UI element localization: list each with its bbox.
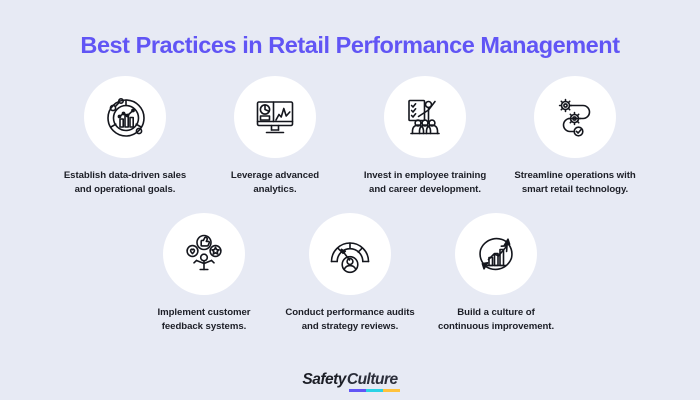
icon-badge <box>84 76 166 158</box>
gears-workflow-path-icon <box>549 91 601 143</box>
practice-card-establish-goals[interactable]: Establish data-driven sales and operatio… <box>50 76 200 197</box>
page-title: Best Practices in Retail Performance Man… <box>80 33 619 59</box>
logo-safety-text: Safety <box>302 372 346 388</box>
practice-card-streamline-operations[interactable]: Streamline operations with smart retail … <box>500 76 650 197</box>
icon-badge <box>455 213 537 295</box>
practice-card-leverage-analytics[interactable]: Leverage advanced analytics. <box>200 76 350 197</box>
practice-caption: Establish data-driven sales and operatio… <box>64 169 186 197</box>
icon-badge <box>234 76 316 158</box>
data-donut-chart-icon <box>99 91 151 143</box>
practice-caption: Conduct performance audits and strategy … <box>285 306 414 334</box>
practice-caption: Leverage advanced analytics. <box>231 169 319 197</box>
logo-culture-text: Culture <box>346 372 398 388</box>
safetyculture-logo[interactable]: SafetyCulture <box>302 372 397 388</box>
practice-caption: Build a culture of continuous improvemen… <box>438 306 554 334</box>
practice-card-continuous-improvement[interactable]: Build a culture of continuous improvemen… <box>423 213 569 334</box>
practice-card-performance-audits[interactable]: Conduct performance audits and strategy … <box>277 213 423 334</box>
practices-row-bottom: Implement customer feedback systems. <box>0 213 700 334</box>
logo-underline-segment-gold <box>383 389 400 392</box>
logo-underline-segment-purple <box>349 389 366 392</box>
icon-badge <box>309 213 391 295</box>
performance-gauge-icon <box>324 228 376 280</box>
infographic-poster: Best Practices in Retail Performance Man… <box>0 0 700 400</box>
icon-badge <box>384 76 466 158</box>
practice-card-customer-feedback[interactable]: Implement customer feedback systems. <box>131 213 277 334</box>
logo-underline-segment-cyan <box>366 389 383 392</box>
practice-caption: Invest in employee training and career d… <box>364 169 486 197</box>
practice-caption: Streamline operations with smart retail … <box>514 169 635 197</box>
practice-caption: Implement customer feedback systems. <box>158 306 251 334</box>
logo-underline <box>349 389 400 392</box>
footer: SafetyCulture <box>0 372 700 388</box>
practice-card-employee-training[interactable]: Invest in employee training and career d… <box>350 76 500 197</box>
practices-row-top: Establish data-driven sales and operatio… <box>0 76 700 197</box>
employee-training-checklist-icon <box>399 91 451 143</box>
customer-feedback-person-icon <box>178 228 230 280</box>
analytics-monitor-icon <box>249 91 301 143</box>
icon-badge <box>534 76 616 158</box>
icon-badge <box>163 213 245 295</box>
continuous-improvement-growth-icon <box>470 228 522 280</box>
